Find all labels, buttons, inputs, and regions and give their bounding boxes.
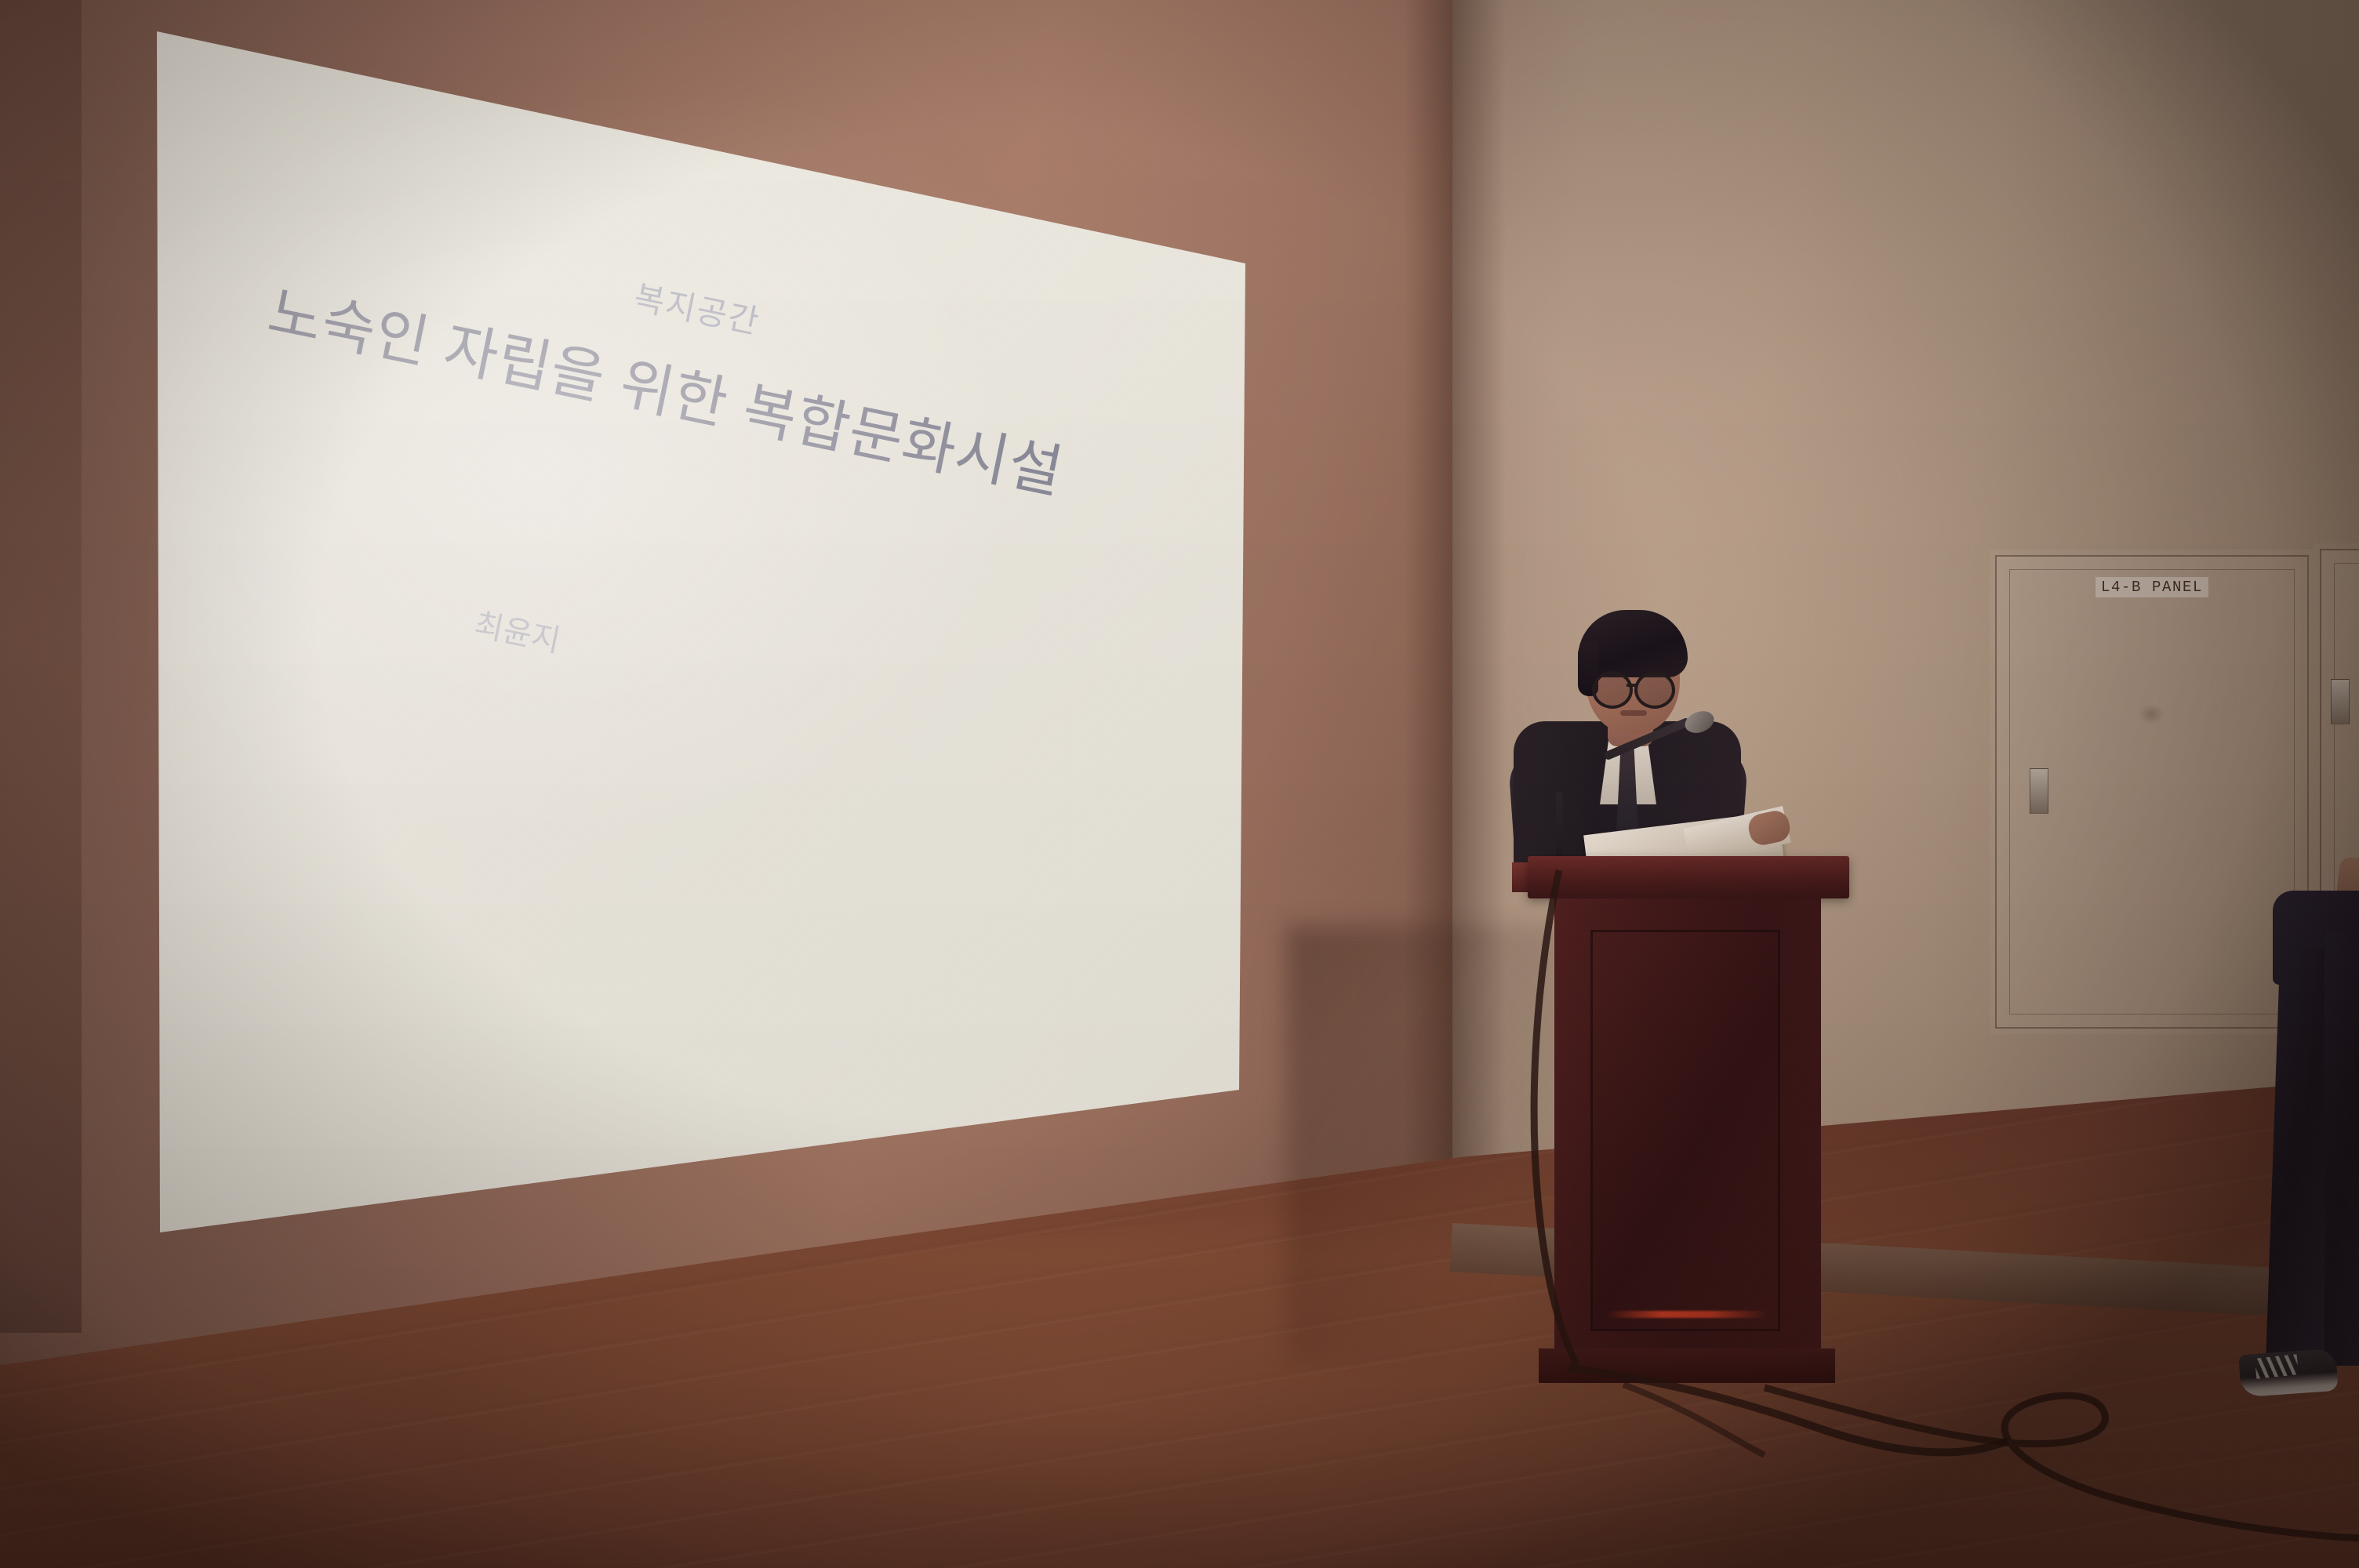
panel-smudge: [2138, 704, 2165, 724]
podium-recessed-panel: [1590, 930, 1780, 1331]
presentation-photo-scene: 복지공간 노숙인 자립을 위한 복합문화시설 최윤지 L4-B PANEL: [0, 0, 2359, 1568]
electrical-panel-primary[interactable]: L4-B PANEL: [1995, 555, 2309, 1029]
podium-cast-shadow: [1286, 925, 1568, 1364]
panel-inner-border: [2009, 569, 2295, 1014]
projection-area: 복지공간 노숙인 자립을 위한 복합문화시설 최윤지: [0, 0, 1333, 1333]
eyeglasses-bridge-icon: [1627, 684, 1636, 687]
podium-base: [1539, 1348, 1835, 1383]
eyeglasses-left-lens-icon: [1592, 671, 1633, 709]
projection-screen: [0, 0, 1333, 1333]
panel-label: L4-B PANEL: [2095, 577, 2208, 597]
panel-latch-icon[interactable]: [2030, 768, 2048, 814]
presenter-mouth: [1620, 710, 1647, 716]
podium-light-strip: [1606, 1311, 1767, 1318]
panel-latch-icon[interactable]: [2331, 679, 2350, 724]
eyeglasses-right-lens-icon: [1634, 671, 1675, 709]
podium-top-surface: [1528, 856, 1849, 898]
side-person-leg-right: [2324, 930, 2359, 1366]
